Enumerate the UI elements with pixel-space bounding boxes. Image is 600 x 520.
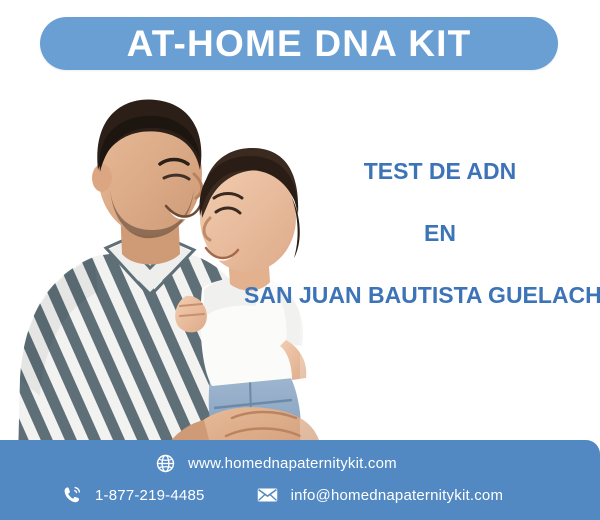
phone-contact[interactable]: 1-877-219-4485 xyxy=(62,485,205,505)
phone-icon xyxy=(62,485,82,505)
contact-footer: www.homednapaternitykit.com 1-877-219-44… xyxy=(0,440,600,520)
poster-canvas: AT-HOME DNA KIT xyxy=(0,0,600,520)
headline-line-2: EN xyxy=(230,222,600,245)
phone-label: 1-877-219-4485 xyxy=(95,488,205,503)
headline-line-3-location: SAN JUAN BAUTISTA GUELACHE xyxy=(230,284,600,307)
headline-block: TEST DE ADN EN SAN JUAN BAUTISTA GUELACH… xyxy=(230,160,600,307)
title-badge: AT-HOME DNA KIT xyxy=(40,17,558,70)
website-contact[interactable]: www.homednapaternitykit.com xyxy=(156,454,397,473)
footer-website-row: www.homednapaternitykit.com xyxy=(156,454,397,473)
website-label: www.homednapaternitykit.com xyxy=(188,456,397,471)
headline-line-1: TEST DE ADN xyxy=(230,160,600,183)
envelope-icon xyxy=(257,487,278,503)
email-label: info@homednapaternitykit.com xyxy=(291,488,504,503)
email-contact[interactable]: info@homednapaternitykit.com xyxy=(257,487,504,503)
globe-icon xyxy=(156,454,175,473)
title-badge-label: AT-HOME DNA KIT xyxy=(127,25,472,62)
footer-contact-row: 1-877-219-4485 info@homednapaternitykit.… xyxy=(62,485,562,505)
